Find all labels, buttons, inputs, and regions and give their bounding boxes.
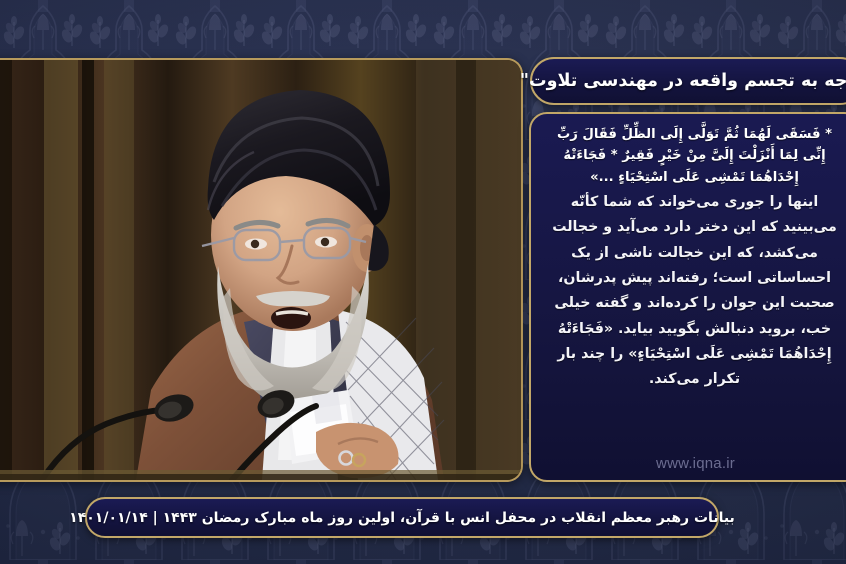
quote-card: * فَسَقَى لَهُمَا ثُمَّ تَوَلَّى إِلَى ا… [529, 112, 846, 482]
speaker-photo [0, 58, 523, 482]
headline-pill: "توجه به تجسم واقعه در مهندسی تلاوت" [530, 57, 846, 105]
caption-pill: بیانات رهبر معظم انقلاب در محفل انس با ق… [85, 497, 719, 538]
caption-text: بیانات رهبر معظم انقلاب در محفل انس با ق… [69, 510, 735, 526]
commentary-text: اینها را جوری می‌خواند که شما کأنّه می‌ب… [547, 190, 842, 392]
quran-verse-text: * فَسَقَى لَهُمَا ثُمَّ تَوَلَّى إِلَى ا… [547, 124, 842, 188]
poster-canvas: "توجه به تجسم واقعه در مهندسی تلاوت" * ف… [0, 0, 846, 564]
site-watermark: www.iqna.ir [531, 455, 846, 472]
headline-text: "توجه به تجسم واقعه در مهندسی تلاوت" [508, 71, 846, 91]
quote-card-inner: * فَسَقَى لَهُمَا ثُمَّ تَوَلَّى إِلَى ا… [531, 114, 846, 400]
